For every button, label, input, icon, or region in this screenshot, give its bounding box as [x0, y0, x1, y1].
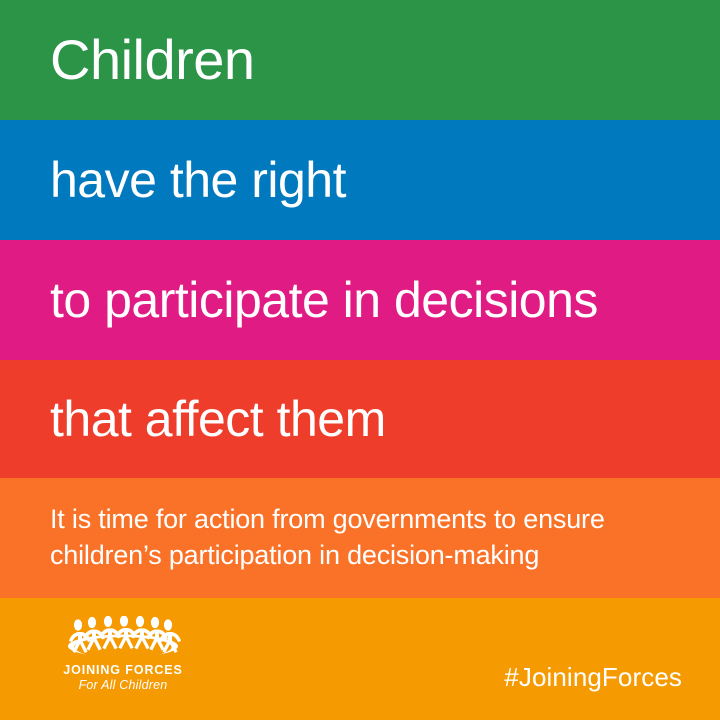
logo-tagline: For All Children	[48, 677, 198, 693]
subhead-band-orange: It is time for action from governments t…	[0, 478, 720, 598]
joining-forces-people-circle-icon	[58, 616, 188, 660]
headline-line-1: Children	[50, 32, 255, 88]
footer-band-amber: JOINING FORCES For All Children #Joining…	[0, 598, 720, 720]
campaign-poster: Children have the right to participate i…	[0, 0, 720, 720]
joining-forces-logo: JOINING FORCES For All Children	[48, 616, 198, 694]
headline-line-4: that affect them	[50, 394, 386, 444]
subhead-line-2: children’s participation in decision-mak…	[50, 538, 605, 574]
subhead-line-1: It is time for action from governments t…	[50, 502, 605, 538]
headline-band-blue: have the right	[0, 120, 720, 240]
headline-band-red: that affect them	[0, 360, 720, 478]
headline-line-3: to participate in decisions	[50, 275, 598, 325]
campaign-hashtag: #JoiningForces	[504, 662, 682, 693]
headline-band-pink: to participate in decisions	[0, 240, 720, 360]
logo-title: JOINING FORCES	[48, 663, 198, 677]
subhead-text: It is time for action from governments t…	[50, 502, 605, 573]
headline-band-green: Children	[0, 0, 720, 120]
headline-line-2: have the right	[50, 155, 346, 205]
